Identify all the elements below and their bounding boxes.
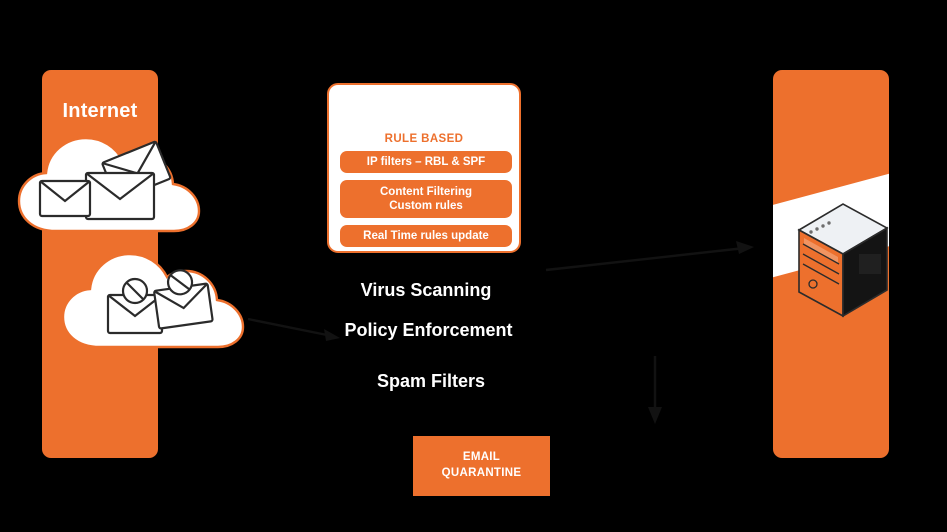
email-quarantine-label: EMAIL QUARANTINE: [442, 450, 522, 481]
email-quarantine-box[interactable]: EMAIL QUARANTINE: [413, 436, 550, 496]
envelope-icon: [40, 181, 90, 216]
pill-content-filtering[interactable]: Content Filtering Custom rules: [340, 180, 512, 218]
inbound-mail-cloud: [14, 131, 204, 239]
diagonal-band: [773, 142, 889, 308]
internet-panel-title: Internet: [42, 100, 158, 123]
pill-content-filtering-label: Content Filtering Custom rules: [380, 185, 472, 214]
label-spam-filters: Spam Filters: [0, 371, 862, 392]
rule-based-card: RULE BASED IP filters – RBL & SPF Conten…: [327, 83, 521, 253]
pill-real-time-rules[interactable]: Real Time rules update: [340, 225, 512, 247]
pill-ip-filters[interactable]: IP filters – RBL & SPF: [340, 151, 512, 173]
envelope-icon: [86, 173, 154, 219]
label-policy-enforcement: Policy Enforcement: [0, 320, 857, 341]
outbound-flow-arrow: [540, 230, 770, 290]
mail-server-panel: [773, 70, 889, 458]
rule-based-heading: RULE BASED: [329, 133, 519, 145]
quarantine-flow-arrow: [560, 350, 670, 440]
diagram-canvas: Internet: [0, 0, 947, 532]
